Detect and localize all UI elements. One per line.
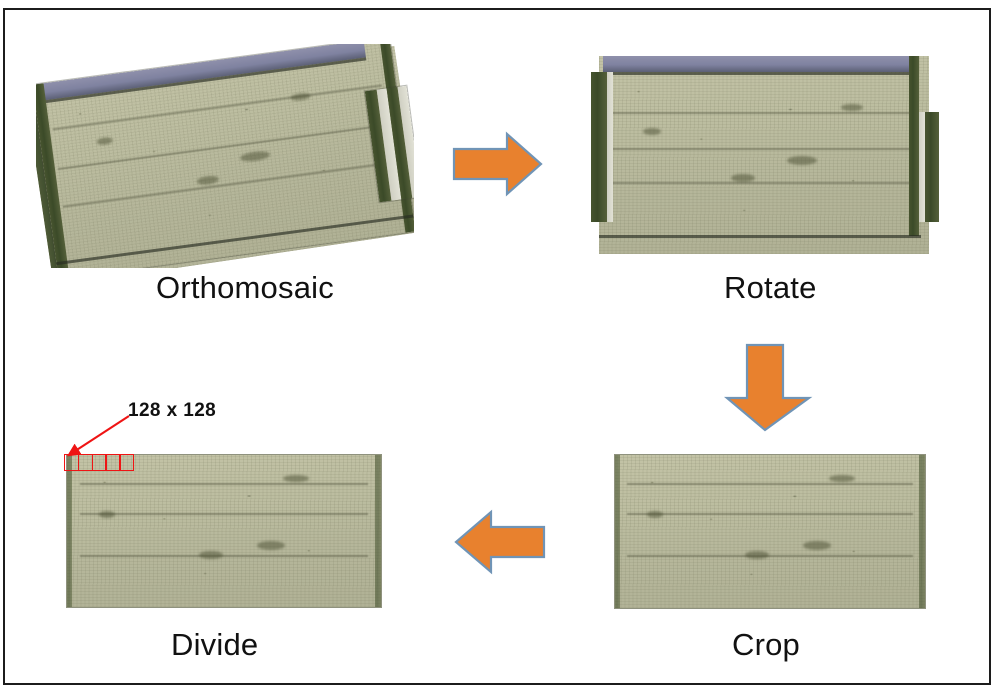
crop-image bbox=[615, 455, 925, 608]
orthomosaic-main-tile bbox=[36, 44, 414, 268]
step-label-crop: Crop bbox=[732, 627, 800, 663]
arrow-down-icon bbox=[724, 343, 812, 433]
patch-size-label: 128 x 128 bbox=[128, 400, 216, 422]
soil-blotch bbox=[841, 104, 863, 111]
soil-blotch bbox=[643, 128, 661, 135]
arrow-right-icon bbox=[452, 131, 544, 197]
soil-blotch bbox=[257, 541, 285, 550]
figure-root: Orthomosaic Rotate Crop bbox=[0, 0, 998, 695]
rotate-image bbox=[591, 56, 939, 254]
soil-blotch bbox=[829, 475, 855, 482]
field-track bbox=[608, 148, 914, 150]
field-track bbox=[80, 483, 369, 485]
vegetation-strip-far-right bbox=[925, 112, 939, 222]
vegetation-edge-left bbox=[615, 455, 620, 608]
soil-blotch bbox=[199, 551, 223, 559]
step-label-orthomosaic: Orthomosaic bbox=[156, 270, 334, 306]
field-track bbox=[627, 555, 912, 557]
arrow-left-icon bbox=[452, 509, 546, 575]
soil-blotch bbox=[283, 475, 309, 482]
soil-blotch bbox=[745, 551, 769, 559]
field-track bbox=[80, 555, 369, 557]
field-track bbox=[608, 112, 914, 114]
divide-image bbox=[67, 455, 381, 607]
vegetation-edge-right bbox=[919, 455, 925, 608]
soil-blotch bbox=[803, 541, 831, 550]
step-label-divide: Divide bbox=[171, 627, 258, 663]
soil-texture bbox=[67, 455, 381, 607]
edge-shadow-top bbox=[603, 72, 915, 75]
soil-blotch bbox=[731, 174, 755, 182]
field-track bbox=[80, 513, 369, 515]
step-label-rotate: Rotate bbox=[724, 270, 817, 306]
vegetation-strip-right bbox=[909, 56, 919, 236]
edge-shadow-bottom bbox=[599, 235, 921, 238]
asphalt-band-top bbox=[603, 56, 915, 72]
soil-texture bbox=[615, 455, 925, 608]
field-track bbox=[627, 483, 912, 485]
soil-texture bbox=[599, 56, 929, 254]
soil-blotch bbox=[787, 156, 817, 165]
vegetation-strip-left bbox=[591, 72, 607, 222]
vegetation-edge-right bbox=[375, 455, 381, 607]
light-strip-left bbox=[607, 72, 613, 222]
soil-blotch bbox=[99, 511, 115, 518]
field-track bbox=[608, 182, 914, 184]
orthomosaic-image bbox=[36, 44, 414, 268]
soil-blotch bbox=[647, 511, 663, 518]
patch-callout-arrow-icon bbox=[60, 412, 136, 464]
vegetation-edge-left bbox=[67, 455, 72, 607]
field-track bbox=[627, 513, 912, 515]
